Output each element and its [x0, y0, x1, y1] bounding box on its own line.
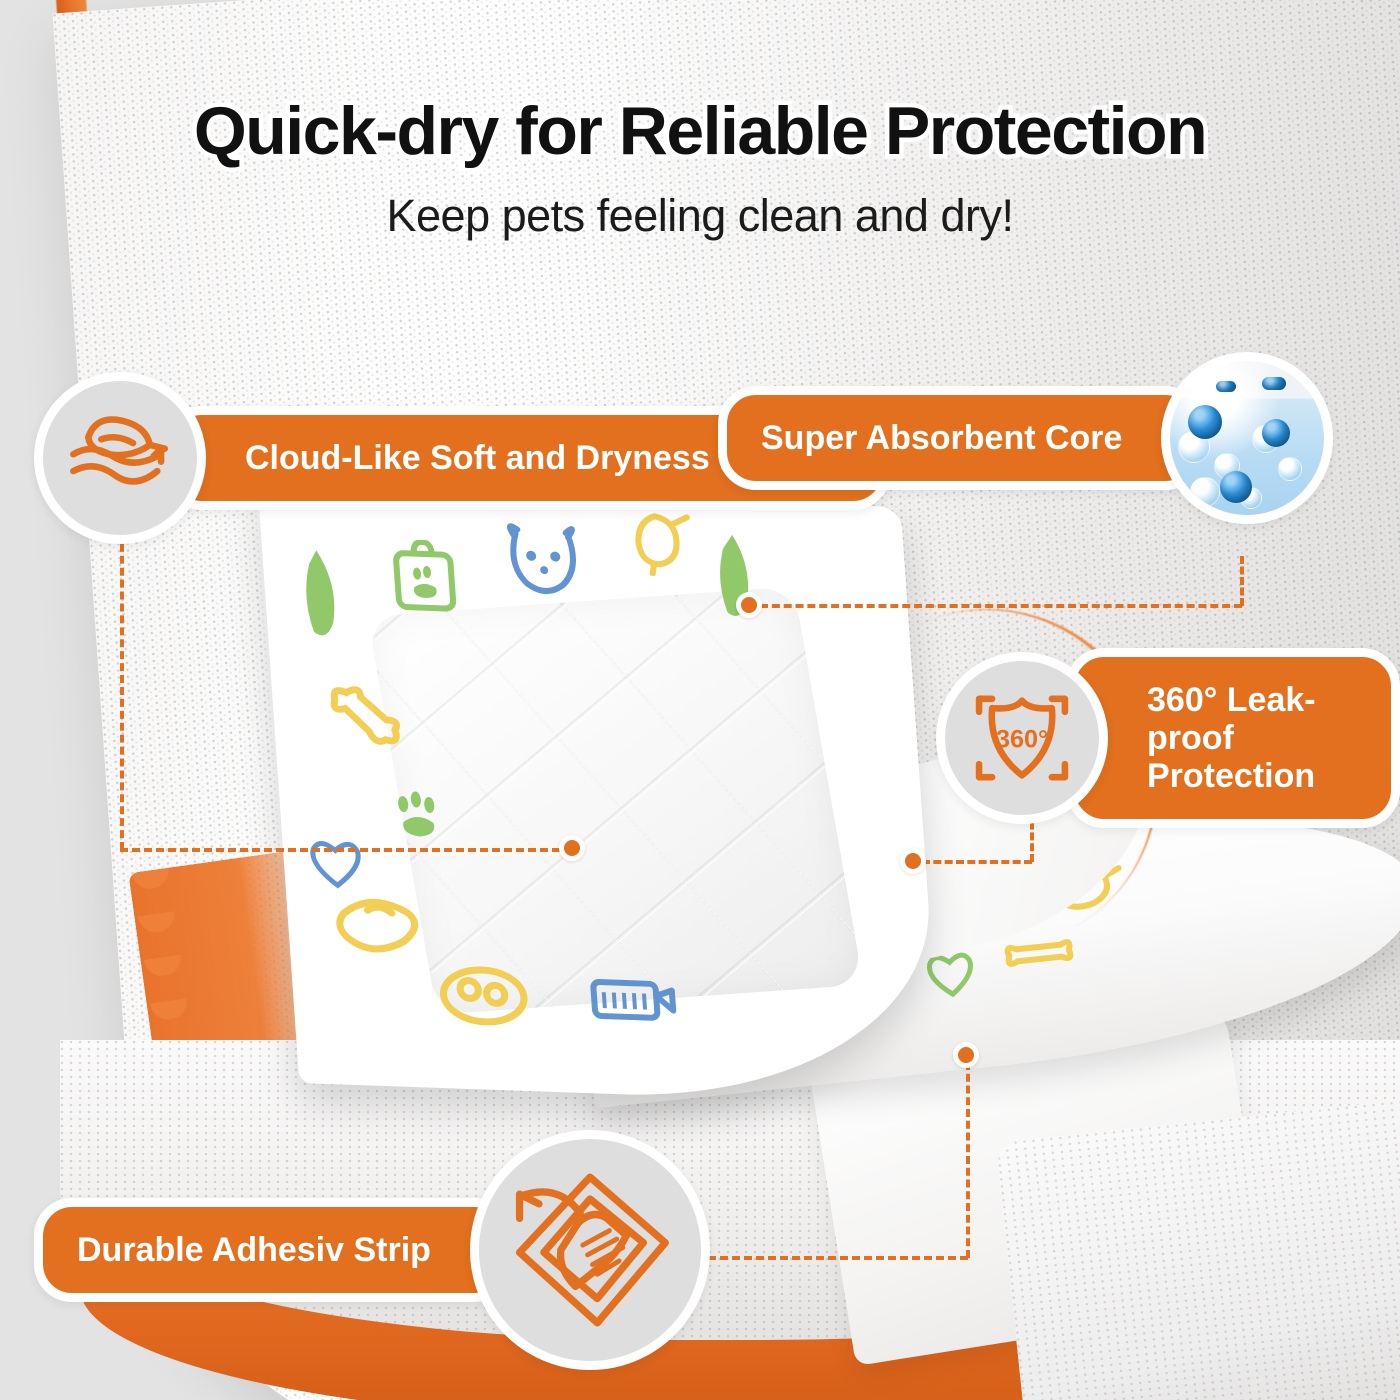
connector-endpoint-dot — [559, 835, 585, 861]
gel-droplet — [1216, 381, 1236, 392]
doodle-food-bowl — [326, 885, 442, 973]
page-title: Quick-dry for Reliable Protection — [0, 92, 1400, 170]
connector-endpoint-dot — [736, 592, 762, 618]
foam-bubble — [1278, 457, 1302, 481]
feature-label-leak-proof: 360° Leak-proof Protection — [1066, 648, 1400, 828]
doodle-pet-tag — [582, 974, 683, 1037]
peel-adhesive-icon — [470, 1130, 710, 1370]
doodle-pet-tag — [387, 539, 465, 619]
connector-segment-vertical — [120, 520, 124, 850]
connector-endpoint-dot — [953, 1042, 979, 1068]
doodle-heart — [304, 834, 368, 892]
gel-bead — [1188, 405, 1222, 439]
connector-segment-vertical — [1240, 556, 1244, 606]
foam-bubble — [1190, 477, 1220, 507]
pad-printed-top-sheet — [258, 485, 943, 1106]
doodle-bone — [323, 678, 415, 755]
infographic-canvas: Quick-dry for Reliable Protection Keep p… — [0, 0, 1400, 1400]
doodle-leaf — [286, 545, 355, 647]
feature-adhesive-strip[interactable]: Durable Adhesiv Strip — [34, 1130, 710, 1370]
under-sheet-b — [995, 1099, 1400, 1400]
feature-label-adhesive-strip: Durable Adhesiv Strip — [34, 1198, 512, 1302]
feature-label-super-absorbent-core: Super Absorbent Core — [718, 386, 1203, 490]
feather-on-waves-icon — [34, 372, 206, 544]
gel-bead — [1262, 419, 1290, 447]
connector-segment-vertical — [966, 1062, 970, 1258]
svg-text:360°: 360° — [996, 725, 1048, 753]
connector-endpoint-dot — [900, 848, 926, 874]
absorbent-gel-beads-photo-icon — [1161, 352, 1333, 524]
shield-360-icon: 360° — [936, 652, 1108, 824]
gel-droplet — [1262, 377, 1286, 390]
doodle-paw-print — [389, 788, 447, 846]
connector-segment-horizontal — [120, 848, 572, 852]
feature-leak-proof[interactable]: 360° 360° Leak-proof Protection — [936, 648, 1400, 828]
page-subtitle: Keep pets feeling clean and dry! — [0, 190, 1400, 242]
connector-segment-horizontal — [922, 860, 1032, 864]
connector-segment-horizontal — [760, 604, 1242, 608]
doodle-food-bowl — [431, 958, 541, 1033]
